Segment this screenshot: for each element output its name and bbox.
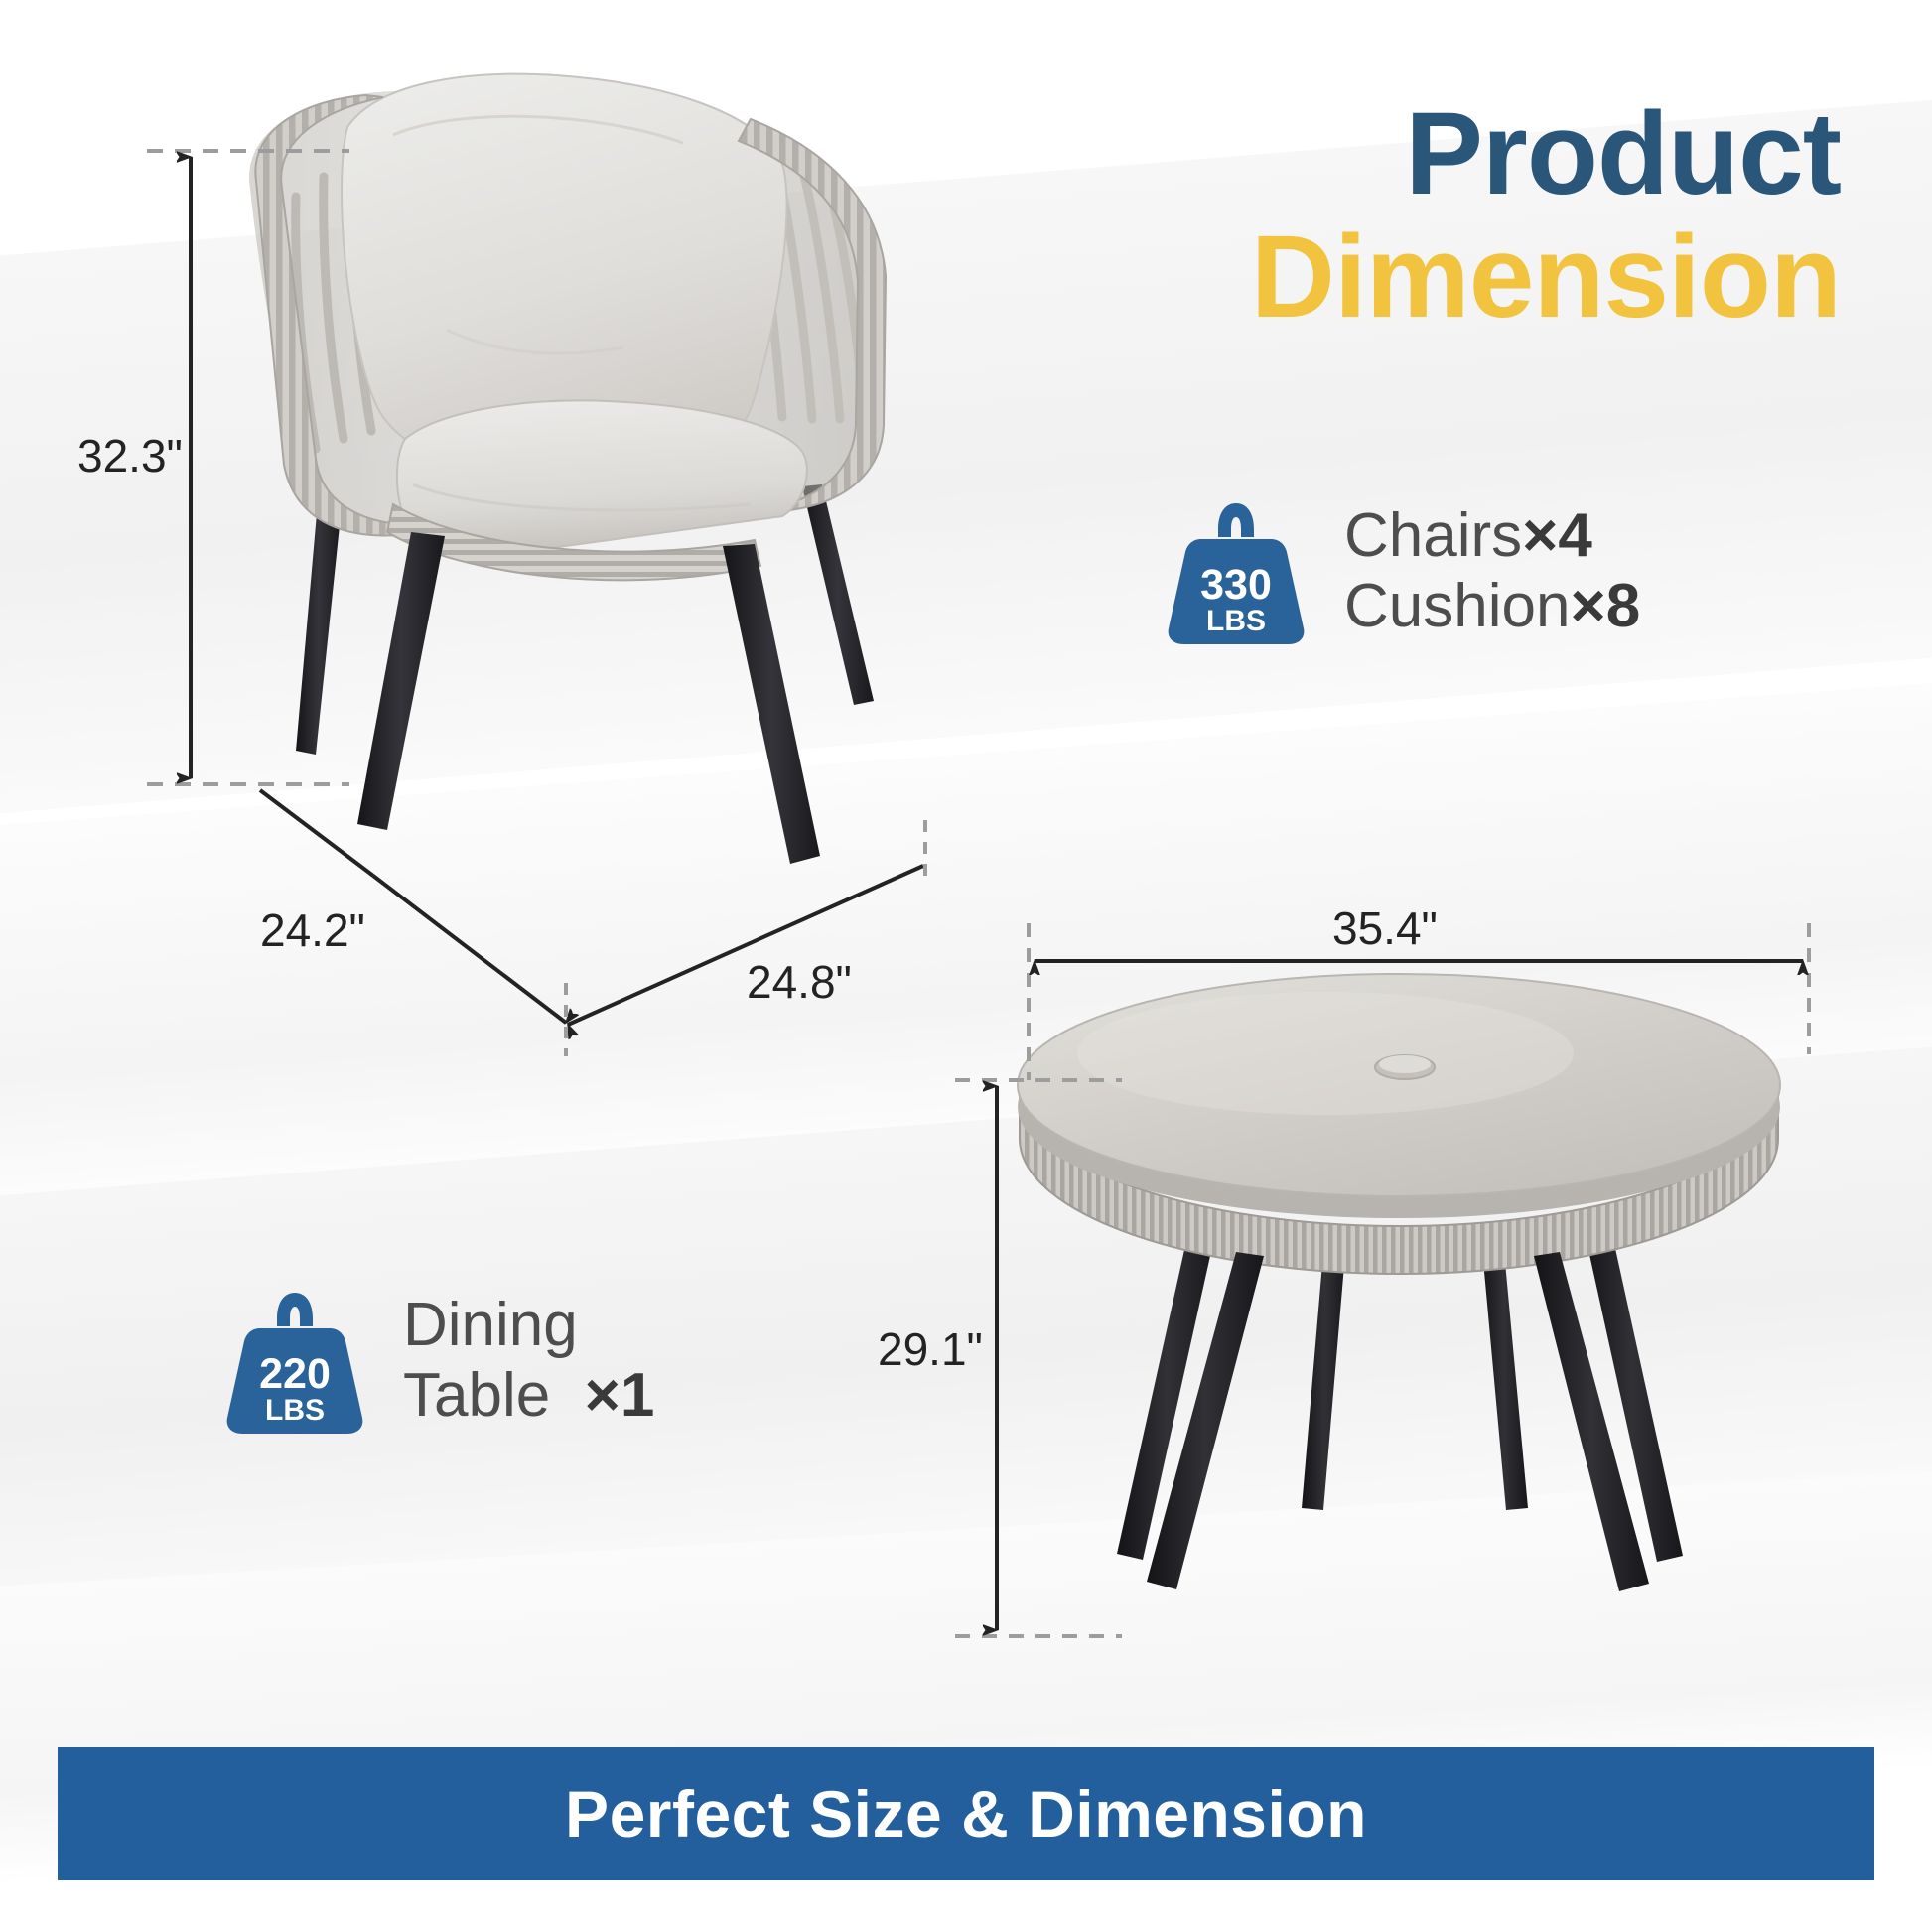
spec-label-chairs: Chairs <box>1344 501 1522 570</box>
spec-line-cushion: Cushion×8 <box>1344 572 1640 642</box>
product-dimension-infographic: Product Dimension <box>0 0 1932 1932</box>
weight-value-chairs: 330 <box>1200 561 1272 609</box>
weight-value-table: 220 <box>259 1350 331 1398</box>
spec-row-dining-table: 220 LBS Dining Table ×1 <box>220 1283 654 1440</box>
spec-label-table: Table <box>403 1361 550 1430</box>
spec-line-table: Table ×1 <box>403 1361 654 1432</box>
dimension-label-chair-depth: 24.8" <box>747 955 852 1009</box>
spec-line-dining: Dining <box>403 1291 654 1361</box>
spec-label-cushion: Cushion <box>1344 572 1570 640</box>
dimension-label-table-diameter: 35.4" <box>1332 901 1438 955</box>
banner-title: Perfect Size & Dimension <box>565 1776 1367 1852</box>
spec-row-chairs: 330 LBS Chairs×4 Cushion×8 <box>1162 493 1640 650</box>
spec-text-chairs: Chairs×4 Cushion×8 <box>1344 501 1640 641</box>
weight-unit-chairs: LBS <box>1206 605 1266 637</box>
spec-text-dining-table: Dining Table ×1 <box>403 1291 654 1431</box>
spec-qty-cushion: ×8 <box>1570 572 1640 640</box>
spec-line-chairs: Chairs×4 <box>1344 501 1640 572</box>
bottom-banner: Perfect Size & Dimension <box>58 1747 1874 1880</box>
dimension-label-table-height: 29.1" <box>878 1322 983 1376</box>
dimension-annotations: 32.3" 24.2" 24.8" 35.4" 29.1" <box>0 0 1932 1932</box>
weight-icon: 330 LBS <box>1162 493 1311 650</box>
spec-label-dining: Dining <box>403 1291 578 1359</box>
spec-qty-table: ×1 <box>585 1361 655 1430</box>
weight-icon: 220 LBS <box>220 1283 369 1440</box>
weight-unit-table: LBS <box>265 1394 325 1427</box>
dimension-label-chair-height: 32.3" <box>77 429 183 483</box>
dimension-label-chair-width: 24.2" <box>260 903 365 957</box>
spec-qty-chairs: ×4 <box>1522 501 1592 570</box>
